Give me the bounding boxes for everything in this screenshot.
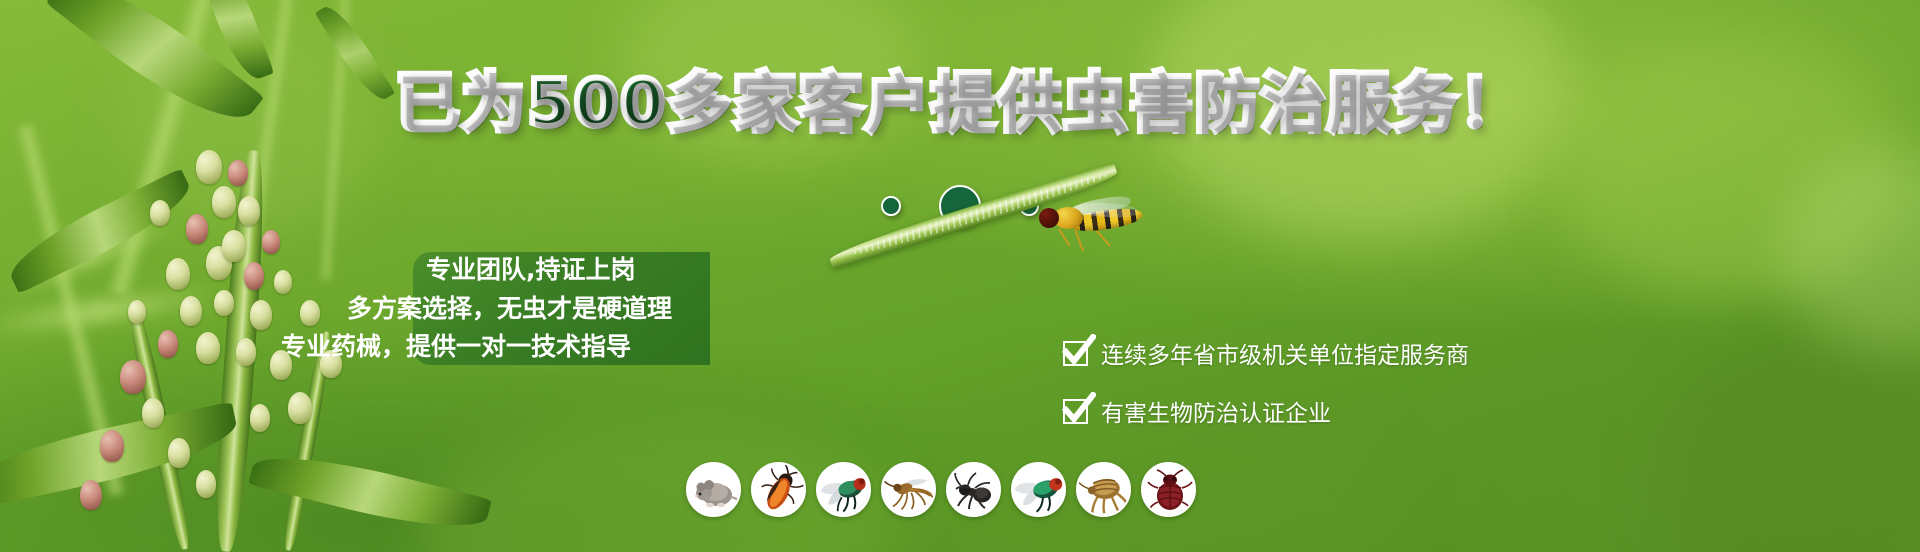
fly-leg [1058, 228, 1070, 246]
plant-bud [80, 480, 102, 510]
plant-bud [236, 338, 256, 366]
pest-control-banner: 已为500多家客户提供虫害防治服务！ 专业团队,持证上岗 多方案选择，无虫才是硬… [0, 0, 1920, 552]
selling-point-line-2: 多方案选择，无虫才是硬道理 [345, 296, 710, 321]
selling-points-box: 专业团队,持证上岗 多方案选择，无虫才是硬道理 专业药械，提供一对一技术指导 [413, 252, 710, 365]
banner-headline: 已为500多家客户提供虫害防治服务！ [0, 72, 1920, 136]
selling-point-line-1: 专业团队,持证上岗 [413, 257, 710, 282]
fly-icon[interactable] [816, 462, 871, 517]
plant-bud [288, 392, 312, 424]
plant-leaf [248, 442, 492, 543]
plant-bud [158, 330, 178, 358]
plant-bud [300, 300, 320, 326]
credential-text: 有害生物防治认证企业 [1101, 394, 1331, 428]
plant-bud [196, 332, 220, 364]
plant-bud [166, 258, 190, 290]
selling-point-line-3: 专业药械，提供一对一技术指导 [281, 334, 710, 359]
hoverfly-on-leaf-image [830, 190, 1190, 300]
plant-bud [222, 230, 246, 262]
credential-row: 有害生物防治认证企业 [1063, 394, 1469, 428]
plant-bud [244, 262, 264, 290]
plant-bud [250, 404, 270, 432]
ant-icon[interactable] [946, 462, 1001, 517]
plant-bud [228, 160, 248, 186]
mosquito-icon[interactable] [881, 462, 936, 517]
banner-headline-text: 已为500多家客户提供虫害防治服务！ [395, 67, 1525, 141]
mouse-icon[interactable] [686, 462, 741, 517]
credentials-list: 连续多年省市级机关单位指定服务商 有害生物防治认证企业 [1063, 336, 1469, 452]
bedbug-icon[interactable] [1141, 462, 1196, 517]
plant-bud [168, 438, 190, 468]
credential-text: 连续多年省市级机关单位指定服务商 [1101, 336, 1469, 370]
plant-bud [214, 290, 234, 316]
credential-row: 连续多年省市级机关单位指定服务商 [1063, 336, 1469, 370]
hoverfly [1035, 198, 1145, 242]
blowfly-icon[interactable] [1011, 462, 1066, 517]
plant-bud [274, 270, 292, 294]
fly-head [1039, 208, 1059, 228]
plant-bud [100, 430, 124, 462]
checkbox-check-icon [1063, 341, 1088, 366]
plant-bud [142, 398, 164, 428]
flea-icon[interactable] [1076, 462, 1131, 517]
plant-bud [262, 230, 280, 254]
checkbox-check-icon [1063, 399, 1088, 424]
plant-bud [196, 470, 216, 498]
plant-bud [250, 300, 272, 330]
cockroach-icon[interactable] [751, 462, 806, 517]
plant-bud [180, 296, 202, 326]
plant-bud [120, 360, 146, 394]
fly-leg [1074, 229, 1084, 252]
plant-bud [128, 300, 146, 324]
pest-icon-row [686, 462, 1196, 517]
plant-bud [196, 150, 222, 184]
